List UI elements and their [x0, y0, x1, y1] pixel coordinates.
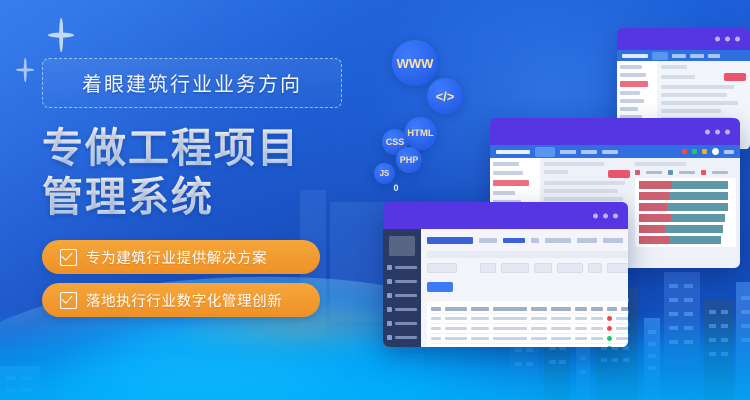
status-badge	[607, 336, 612, 341]
chart-legend	[635, 170, 736, 175]
feature-label-2: 落地执行行业数字化管理创新	[86, 290, 282, 311]
app-content	[421, 229, 628, 347]
headline-line-1: 专做工程项目	[42, 124, 342, 173]
tech-bubble-zero: 0	[388, 180, 404, 196]
table-row[interactable]	[431, 324, 628, 334]
primary-action-button[interactable]	[724, 73, 746, 81]
add-button[interactable]	[427, 282, 453, 292]
sidebar-item[interactable]	[387, 263, 417, 272]
checkbox-checked-icon	[60, 249, 77, 266]
sidebar-item[interactable]	[387, 305, 417, 314]
window-titlebar	[490, 118, 740, 145]
tech-bubble-label: HTML	[407, 128, 433, 139]
sparkle-icon	[16, 58, 34, 82]
feature-list: 专为建筑行业提供解决方案 落地执行行业数字化管理创新	[42, 240, 342, 317]
sidebar-item[interactable]	[387, 291, 417, 300]
promo-banner: 着眼建筑行业业务方向 专做工程项目 管理系统 专为建筑行业提供解决方案 落地执行…	[0, 0, 750, 400]
window-titlebar	[383, 202, 628, 229]
app-body	[383, 229, 628, 347]
table-header-row	[431, 304, 628, 314]
code-icon: </>	[436, 89, 455, 104]
sparkle-icon	[48, 18, 74, 52]
app-brand	[427, 237, 473, 244]
stacked-bar-chart	[635, 178, 736, 247]
chart-bar	[639, 214, 732, 222]
feature-label-1: 专为建筑行业提供解决方案	[86, 247, 267, 268]
headline-line-2: 管理系统	[42, 173, 342, 222]
avatar	[712, 148, 719, 155]
tech-bubble-code: </>	[427, 78, 463, 114]
table-row[interactable]	[431, 334, 628, 344]
tech-bubble-label: JS	[380, 169, 390, 178]
tech-bubble-label: WWW	[397, 56, 434, 71]
dashboard-window-front[interactable]	[383, 202, 628, 347]
tagline-box: 着眼建筑行业业务方向	[42, 58, 342, 108]
data-table	[427, 301, 628, 347]
window-controls[interactable]	[715, 37, 740, 42]
chart-bar	[639, 192, 732, 200]
banner-copy: 着眼建筑行业业务方向 专做工程项目 管理系统 专为建筑行业提供解决方案 落地执行…	[42, 58, 342, 326]
tech-bubble-label: PHP	[400, 155, 419, 165]
tagline-text: 着眼建筑行业业务方向	[82, 74, 302, 96]
filter-bar[interactable]	[427, 262, 628, 274]
app-toolbar[interactable]	[427, 234, 628, 247]
app-logo	[389, 236, 415, 256]
sidebar-item[interactable]	[387, 277, 417, 286]
status-badge	[607, 316, 612, 321]
tech-bubble-html: HTML	[404, 117, 437, 150]
status-badge	[607, 346, 612, 347]
sidebar-item[interactable]	[387, 333, 417, 342]
sidebar-item[interactable]	[387, 319, 417, 328]
checkbox-checked-icon	[60, 292, 77, 309]
table-row[interactable]	[431, 344, 628, 347]
window-titlebar	[617, 28, 750, 50]
tech-bubble-label: CSS	[386, 137, 405, 147]
app-sidebar[interactable]	[383, 229, 421, 347]
chart-bar	[639, 181, 732, 189]
tech-bubble-php: PHP	[396, 147, 422, 173]
feature-pill-1[interactable]: 专为建筑行业提供解决方案	[42, 240, 320, 274]
table-row[interactable]	[431, 314, 628, 324]
app-navbar	[617, 50, 750, 61]
status-badge	[607, 326, 612, 331]
chart-panel	[635, 162, 736, 264]
feature-pill-2[interactable]: 落地执行行业数字化管理创新	[42, 283, 320, 317]
primary-action-button[interactable]	[608, 170, 630, 178]
chart-bar	[639, 225, 732, 233]
breadcrumb	[427, 251, 628, 258]
window-controls[interactable]	[705, 129, 730, 134]
page-title: 专做工程项目 管理系统	[42, 124, 342, 222]
chart-bar	[639, 203, 732, 211]
chart-bar	[639, 236, 732, 244]
app-navbar	[490, 145, 740, 158]
window-controls[interactable]	[593, 213, 618, 218]
tech-bubble-label: 0	[393, 183, 398, 193]
tech-bubble-www: WWW	[392, 40, 438, 86]
